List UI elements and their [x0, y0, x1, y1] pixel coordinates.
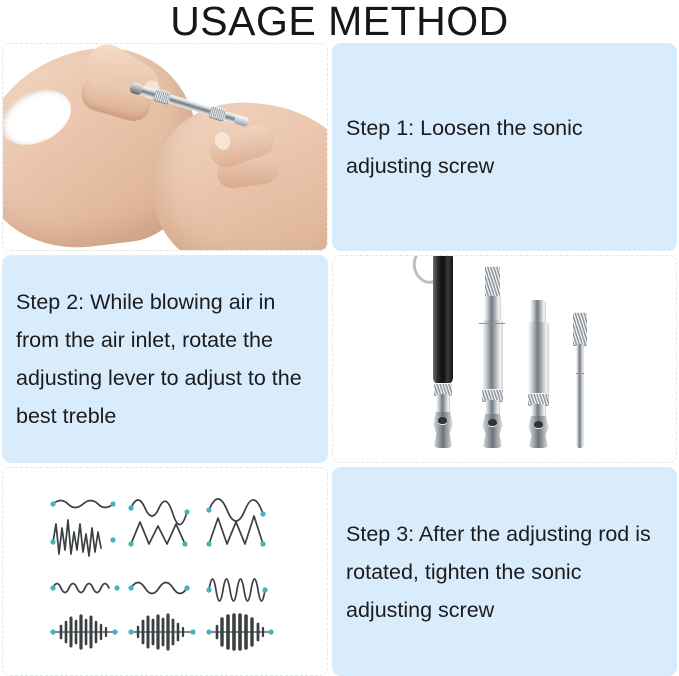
wave-tight-ripple	[53, 583, 109, 592]
wave-soft-ripple	[131, 582, 187, 593]
adjusting-rod-seam	[576, 373, 584, 374]
photo-frame-hands	[2, 43, 328, 251]
whistle-2-seam	[479, 323, 505, 324]
panel-step-1: Step 1: Loosen the sonic adjusting screw	[332, 43, 677, 251]
photo-frame-waves	[2, 467, 328, 676]
whistle-steel-extended	[479, 262, 505, 448]
panel-photo-waves	[2, 467, 328, 676]
whistles-illustration	[333, 256, 676, 462]
wave-bars-dense	[131, 615, 193, 649]
adjusting-rod-knurl	[573, 312, 587, 346]
wave-zigzag	[131, 522, 185, 544]
whistle-2-barrel	[482, 320, 503, 392]
wave-high-frequency	[209, 579, 265, 601]
whistle-2-air-hole	[488, 419, 497, 426]
photo-frame-whistles	[332, 255, 677, 463]
wave-noisy-spiky	[53, 520, 101, 556]
wave-medium-smooth	[131, 500, 187, 525]
adjusting-rod-shaft	[576, 344, 584, 448]
whistle-3-barrel	[528, 322, 549, 398]
steps-grid: Step 1: Loosen the sonic adjusting screw…	[0, 43, 679, 676]
page-title-text: USAGE METHOD	[170, 0, 509, 42]
panel-photo-whistles	[332, 255, 677, 463]
whistle-3-air-hole	[534, 421, 543, 428]
panel-step-3: Step 3: After the adjusting rod is rotat…	[332, 467, 677, 676]
wave-low-smooth	[53, 500, 113, 507]
adjusting-rod	[571, 308, 589, 448]
whistle-2-top-knurl	[485, 266, 500, 298]
step-3-card: Step 3: After the adjusting rod is rotat…	[332, 467, 677, 676]
usage-method-infographic: USAGE METHOD	[0, 0, 679, 676]
whistle-steel-short	[525, 288, 551, 448]
step-1-card: Step 1: Loosen the sonic adjusting screw	[332, 43, 677, 251]
waveform-grid-svg	[49, 486, 281, 658]
panel-photo-hands	[2, 43, 328, 251]
step-1-text: Step 1: Loosen the sonic adjusting screw	[332, 109, 677, 185]
step-3-text: Step 3: After the adjusting rod is rotat…	[332, 515, 677, 629]
step-2-text: Step 2: While blowing air in from the ai…	[2, 283, 328, 435]
whistle-black-shaft	[433, 255, 453, 384]
wave-bar-rows	[53, 615, 271, 649]
wave-bars-tapered	[53, 616, 115, 648]
whistle-black-air-hole	[438, 417, 447, 424]
whistle-black-with-keyring	[429, 255, 455, 448]
waveform-grid	[3, 468, 327, 675]
hands-illustration	[3, 44, 327, 250]
step-2-card: Step 2: While blowing air in from the ai…	[2, 255, 328, 463]
panel-step-2: Step 2: While blowing air in from the ai…	[2, 255, 328, 463]
page-title: USAGE METHOD	[0, 0, 679, 42]
wave-bars-block	[209, 615, 271, 649]
